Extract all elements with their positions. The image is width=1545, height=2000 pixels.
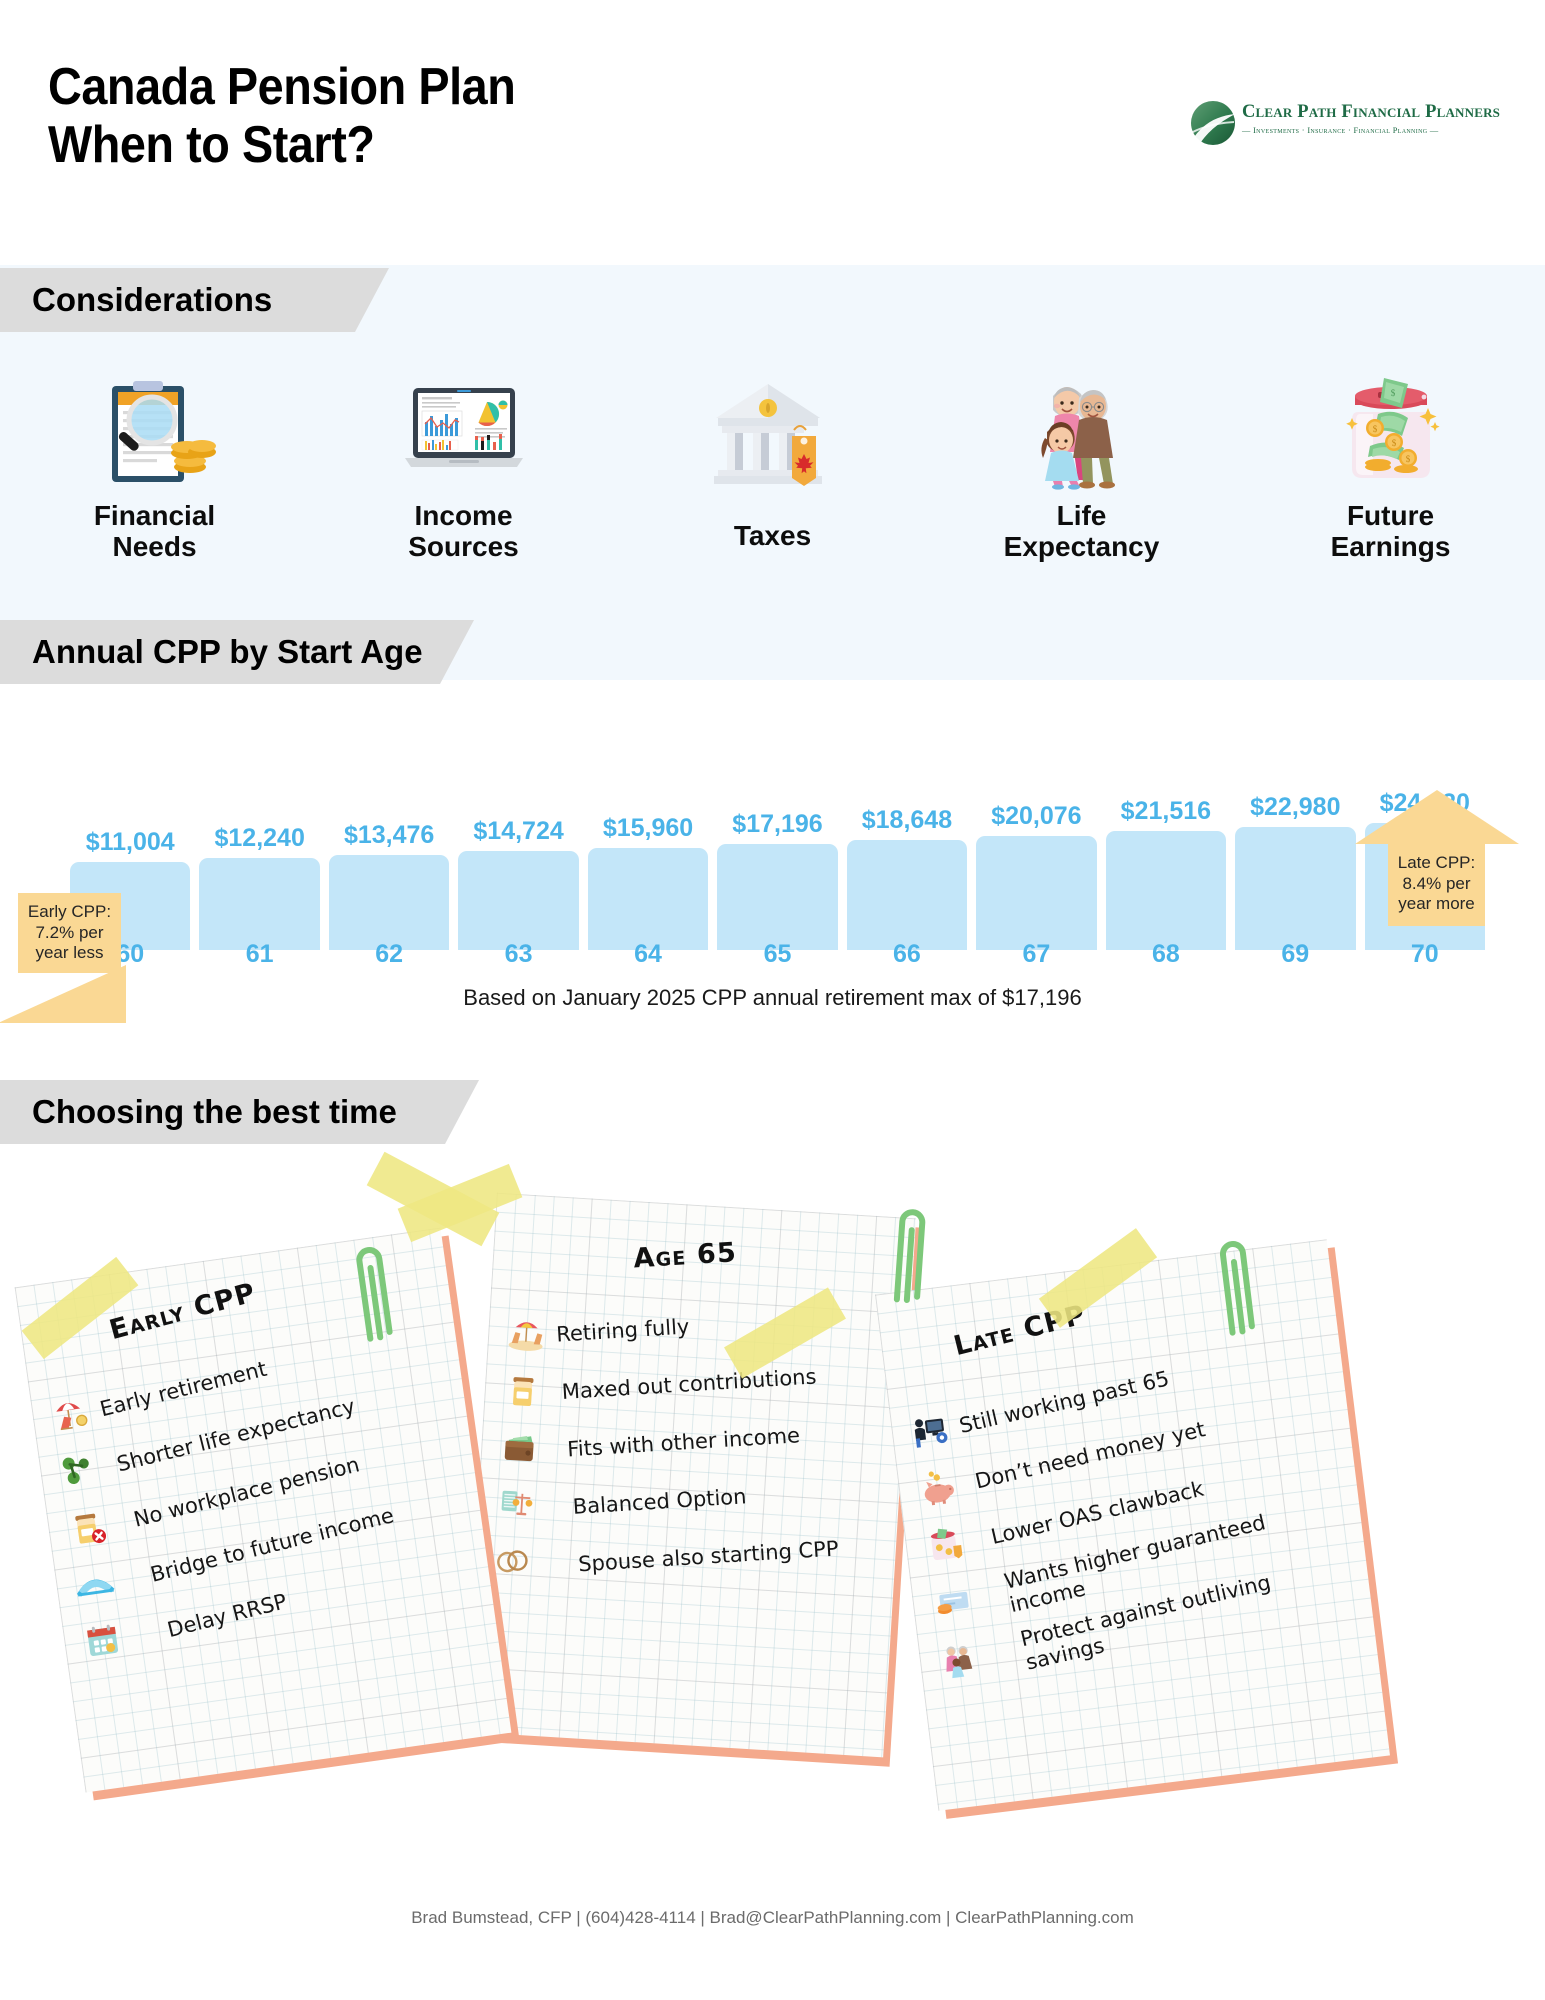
callout-early-arrow-icon: [0, 965, 126, 1023]
note-item: Maxed out contributions: [502, 1365, 892, 1435]
note-card-late-cpp: Late CPP Still working past 65Don’t need…: [875, 1239, 1390, 1811]
bar-column: $21,516: [1106, 700, 1226, 950]
bar-column: $20,076: [976, 700, 1096, 950]
consideration-label: Taxes: [734, 520, 811, 551]
note-item-label: Spouse also starting CPP: [578, 1536, 840, 1576]
bar-age-label: 61: [199, 940, 319, 980]
bar-value-label: $13,476: [344, 821, 434, 850]
bar-age-label: 66: [847, 940, 967, 980]
bar-column: $22,980: [1235, 700, 1355, 950]
svg-text:$: $: [1390, 388, 1395, 398]
consideration-taxes: Taxes: [658, 370, 888, 551]
banner-annual-cpp-label: Annual CPP by Start Age: [0, 633, 423, 671]
consideration-life-expectancy: Life Expectancy: [967, 370, 1197, 563]
note-item-label: Early retirement: [98, 1357, 270, 1422]
note-cards-area: Early CPP Early retirementShorter life e…: [0, 1160, 1545, 1860]
svg-text:$: $: [1391, 438, 1396, 448]
banner-slant-edge: [440, 620, 474, 684]
bar-value-label: $11,004: [86, 828, 175, 857]
grandparents-with-child-icon: [1017, 370, 1147, 492]
elderly-family-icon: [936, 1637, 981, 1682]
full-savings-jar-icon: [502, 1368, 544, 1410]
bar-value-label: $15,960: [603, 814, 693, 843]
callout-early-cpp: Early CPP: 7.2% per year less: [18, 893, 121, 973]
bar-rect: [1235, 827, 1355, 950]
bar-age-label: 65: [717, 940, 837, 980]
note-item: Spouse also starting CPP: [491, 1536, 881, 1606]
bar-rect: [976, 836, 1096, 950]
callout-late-cpp: Late CPP: 8.4% per year more: [1388, 842, 1485, 926]
consideration-future-earnings: $ $ $ $: [1276, 370, 1506, 563]
svg-text:$: $: [1372, 424, 1377, 434]
bar-age-label: 62: [329, 940, 449, 980]
bar-column: $14,724: [458, 700, 578, 950]
calendar-coin-icon: [80, 1617, 125, 1662]
note-item-label: Fits with other income: [567, 1423, 801, 1461]
chart-caption: Based on January 2025 CPP annual retirem…: [0, 985, 1545, 1011]
note-item-label: Delay RRSP: [165, 1589, 289, 1642]
bar-value-label: $14,724: [473, 817, 563, 846]
bar-value-label: $21,516: [1121, 797, 1211, 826]
logo-text-block: Clear Path Financial Planners — Investme…: [1242, 102, 1500, 135]
note-card-item-list: Retiring fullyMaxed out contributionsFit…: [490, 1309, 895, 1617]
note-item-label: Balanced Option: [572, 1484, 747, 1519]
bar-value-label: $18,648: [862, 806, 952, 835]
bar-age-label: 63: [458, 940, 578, 980]
bar-column: $12,240: [199, 700, 319, 950]
bar-age-label: 69: [1235, 940, 1355, 980]
banner-choosing-best-time: Choosing the best time: [0, 1080, 445, 1144]
bar-age-label: 68: [1106, 940, 1226, 980]
beach-umbrella-chair-icon: [48, 1391, 93, 1436]
bar-rect: [847, 840, 967, 950]
bar-rect: [458, 851, 578, 950]
money-jar-with-bills-coins-icon: $ $ $ $: [1326, 370, 1456, 492]
svg-text:$: $: [1405, 454, 1410, 464]
banner-annual-cpp: Annual CPP by Start Age: [0, 620, 440, 684]
bar-column: $18,648: [847, 700, 967, 950]
consideration-financial-needs: Financial Needs: [40, 370, 270, 563]
note-card-item-list: Early retirementShorter life expectancyN…: [48, 1338, 482, 1676]
beach-scene-icon: [505, 1312, 547, 1354]
considerations-icon-row: Financial Needs: [0, 370, 1545, 600]
banner-considerations: Considerations: [0, 268, 355, 332]
callout-late-arrow-icon: [1355, 790, 1519, 844]
page-header: Canada Pension Plan When to Start? Clear…: [0, 0, 1545, 265]
note-item: Fits with other income: [498, 1422, 888, 1492]
chart-age-axis: 6061626364656667686970: [70, 940, 1485, 980]
cpp-bar-chart: $11,004$12,240$13,476$14,724$15,960$17,1…: [0, 700, 1545, 1000]
wallet-with-cash-icon: [498, 1425, 540, 1467]
jar-with-red-x-icon: [64, 1504, 109, 1549]
logo-company-name: Clear Path Financial Planners: [1242, 102, 1500, 123]
note-card-title: Age 65: [633, 1237, 738, 1274]
bar-rect: [1106, 831, 1226, 950]
note-item-label: Maxed out contributions: [561, 1364, 817, 1404]
bar-age-label: 67: [976, 940, 1096, 980]
note-card-item-list: Still working past 65Don’t need money ye…: [907, 1358, 1362, 1697]
bar-age-label: 70: [1365, 940, 1485, 980]
banner-considerations-label: Considerations: [0, 281, 272, 319]
bar-rect: [588, 848, 708, 950]
wedding-rings-icon: [491, 1539, 533, 1581]
bar-column: $13,476: [329, 700, 449, 950]
chart-bars: $11,004$12,240$13,476$14,724$15,960$17,1…: [70, 700, 1485, 950]
banner-slant-edge: [445, 1080, 479, 1144]
logo-tagline: — Investments · Insurance · Financial Pl…: [1242, 126, 1500, 135]
page-title: Canada Pension Plan When to Start?: [48, 58, 515, 174]
bar-rect: [329, 855, 449, 950]
scales-balance-icon: [495, 1482, 537, 1524]
money-jar-tag-icon: [922, 1521, 967, 1566]
cheque-coins-icon: [929, 1579, 974, 1624]
consideration-label: Income Sources: [408, 500, 519, 563]
clipboard-magnifier-coins-icon: [90, 370, 220, 492]
broccoli-sprout-icon: [56, 1448, 101, 1493]
note-item-label: Retiring fully: [556, 1314, 690, 1346]
bar-column: $17,196: [717, 700, 837, 950]
consideration-label: Future Earnings: [1331, 500, 1451, 563]
bar-age-label: 64: [588, 940, 708, 980]
bar-value-label: $17,196: [732, 810, 822, 839]
consideration-income-sources: Income Sources: [349, 370, 579, 563]
bar-rect: [717, 844, 837, 950]
bank-building-maple-leaf-tag-icon: [708, 370, 838, 492]
note-item-label: Still working past 65: [957, 1366, 1171, 1438]
bar-column: $15,960: [588, 700, 708, 950]
laptop-dashboard-charts-icon: [399, 370, 529, 492]
piggy-bank-coins-icon: [915, 1464, 960, 1509]
bar-value-label: $22,980: [1250, 793, 1340, 822]
banner-choosing-best-time-label: Choosing the best time: [0, 1093, 397, 1131]
bar-value-label: $12,240: [214, 824, 304, 853]
note-card-age-65: Age 65 Retiring fullyMaxed out contribut…: [464, 1193, 916, 1758]
consideration-label: Life Expectancy: [1004, 500, 1160, 563]
bar-rect: [199, 858, 319, 950]
bar-value-label: $20,076: [991, 802, 1081, 831]
bridge-icon: [72, 1561, 117, 1606]
consideration-label: Financial Needs: [94, 500, 215, 563]
paperclip-icon: [884, 1199, 932, 1312]
footer-contact: Brad Bumstead, CFP | (604)428-4114 | Bra…: [0, 1908, 1545, 1928]
person-at-desk-working-icon: [908, 1408, 953, 1453]
banner-slant-edge: [355, 268, 389, 332]
logo-sphere-icon: [1190, 100, 1236, 146]
company-logo: Clear Path Financial Planners — Investme…: [1190, 98, 1460, 150]
